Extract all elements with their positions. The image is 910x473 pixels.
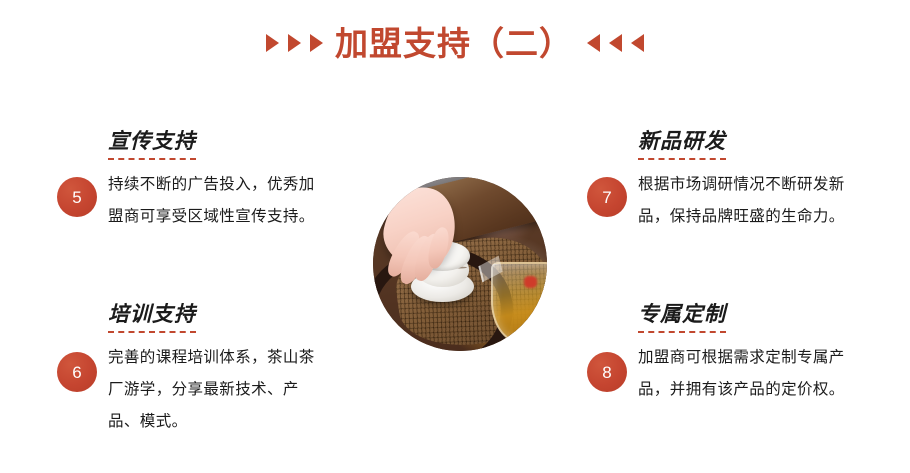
- photo-scene: [373, 177, 547, 351]
- page-title-bar: 加盟支持（二）: [0, 18, 910, 68]
- title-right-markers: [587, 34, 644, 52]
- title-left-markers: [266, 34, 323, 52]
- feature-heading: 新品研发: [638, 130, 726, 152]
- feature-body-text: 完善的课程培训体系，茶山茶厂游学，分享最新技术、产品、模式。: [108, 341, 330, 437]
- triangle-left-icon: [587, 34, 600, 52]
- heading-dashed-rule: [108, 331, 196, 333]
- triangle-right-icon: [266, 34, 279, 52]
- heading-dashed-rule: [108, 158, 196, 160]
- heading-dashed-rule: [638, 331, 726, 333]
- feature-heading: 专属定制: [638, 303, 726, 325]
- feature-body-text: 根据市场调研情况不断研发新品，保持品牌旺盛的生命力。: [638, 168, 860, 232]
- photo-glass-pitcher: [491, 262, 547, 343]
- triangle-right-icon: [288, 34, 301, 52]
- feature-number-badge: 7: [587, 177, 627, 217]
- triangle-right-icon: [310, 34, 323, 52]
- feature-body-text: 加盟商可根据需求定制专属产品，并拥有该产品的定价权。: [638, 341, 860, 405]
- feature-number-badge: 8: [587, 352, 627, 392]
- page-title: 加盟支持（二）: [335, 27, 573, 60]
- triangle-left-icon: [609, 34, 622, 52]
- feature-number-badge: 5: [57, 177, 97, 217]
- feature-heading: 宣传支持: [108, 130, 196, 152]
- photo-red-accent: [524, 276, 536, 288]
- heading-dashed-rule: [638, 158, 726, 160]
- tea-ceremony-photo: [373, 177, 547, 351]
- triangle-left-icon: [631, 34, 644, 52]
- feature-body-text: 持续不断的广告投入，优秀加盟商可享受区域性宣传支持。: [108, 168, 330, 232]
- feature-heading: 培训支持: [108, 303, 196, 325]
- feature-number-badge: 6: [57, 352, 97, 392]
